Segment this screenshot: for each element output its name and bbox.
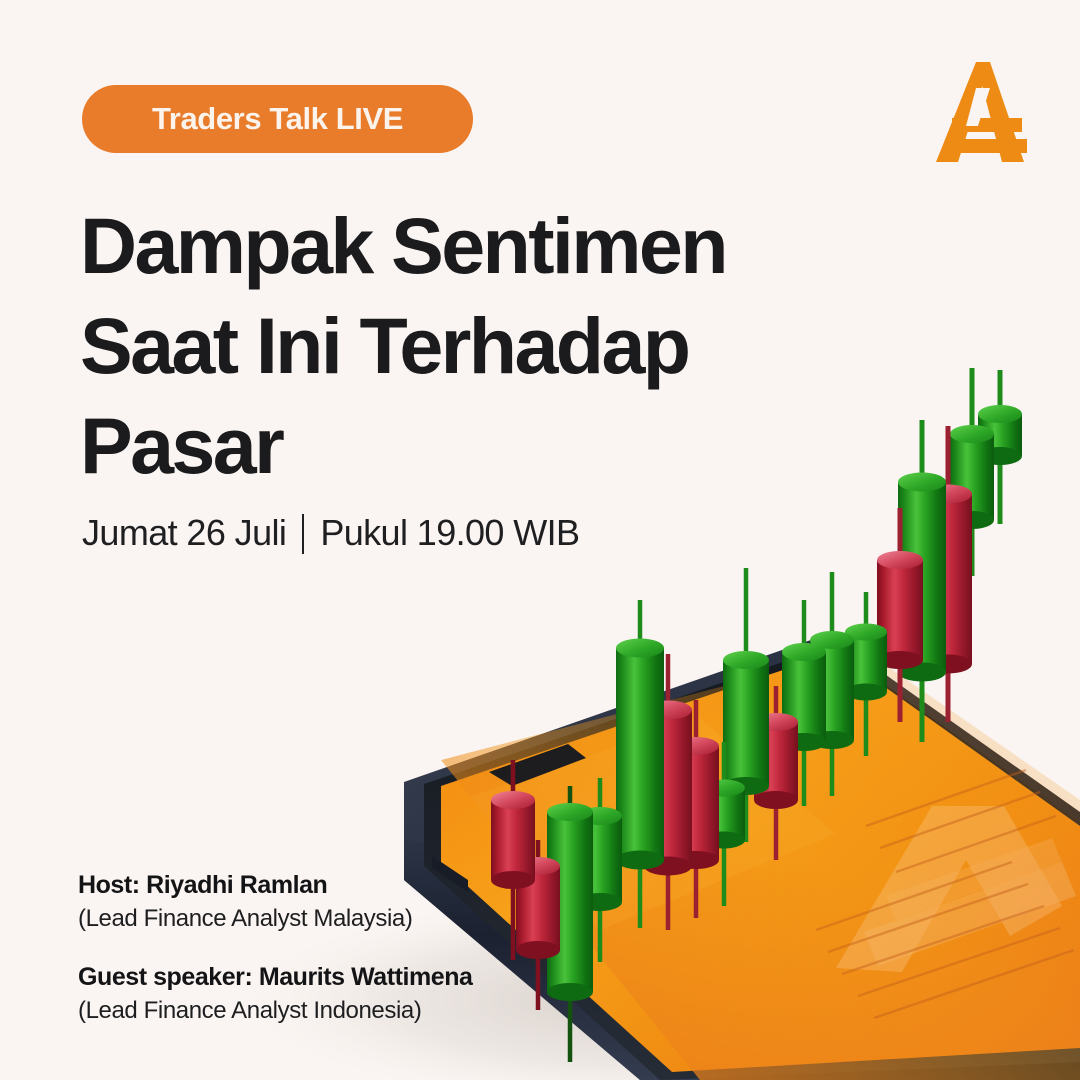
speaker-guest: Guest speaker: Maurits Wattimena (Lead F…	[78, 960, 473, 1028]
headline-line-1: Dampak Sentimen	[80, 196, 840, 296]
speaker-host: Host: Riyadhi Ramlan (Lead Finance Analy…	[78, 868, 473, 936]
ascendex-a-logo	[930, 58, 1034, 166]
logo-crossbar-upper	[952, 118, 1022, 132]
headline-line-3: Pasar	[80, 396, 840, 496]
speaker-host-name: Host: Riyadhi Ramlan	[78, 868, 473, 902]
speaker-host-role: (Lead Finance Analyst Malaysia)	[78, 902, 473, 936]
live-badge: Traders Talk LIVE	[82, 85, 473, 153]
event-time: Pukul 19.00 WIB	[320, 512, 579, 554]
speakers-list: Host: Riyadhi Ramlan (Lead Finance Analy…	[78, 868, 473, 1028]
datetime-separator	[302, 514, 304, 554]
event-datetime: Jumat 26 Juli Pukul 19.00 WIB	[82, 512, 579, 554]
page-title: Dampak Sentimen Saat Ini Terhadap Pasar	[80, 196, 840, 496]
speaker-guest-name: Guest speaker: Maurits Wattimena	[78, 960, 473, 994]
event-date: Jumat 26 Juli	[82, 512, 286, 554]
promo-poster: Traders Talk LIVE Dampak Sentimen Saat I…	[0, 0, 1080, 1080]
speaker-guest-role: (Lead Finance Analyst Indonesia)	[78, 994, 473, 1028]
logo-crossbar-lower	[957, 139, 1027, 153]
headline-line-2: Saat Ini Terhadap	[80, 296, 840, 396]
live-badge-label: Traders Talk LIVE	[152, 101, 403, 137]
